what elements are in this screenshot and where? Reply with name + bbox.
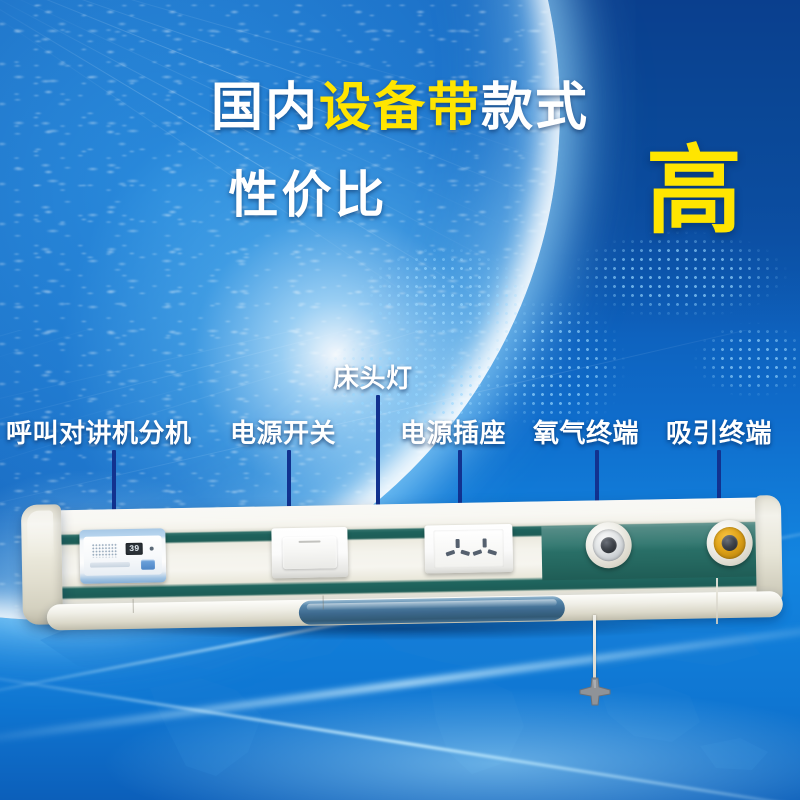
power-socket-device[interactable] xyxy=(424,524,513,574)
intercom-call-button[interactable] xyxy=(141,560,155,570)
nurse-call-intercom-device[interactable]: 39 xyxy=(79,528,166,584)
power-switch-device[interactable] xyxy=(271,527,348,578)
intercom-faceplate: 39 xyxy=(83,535,162,575)
promo-banner: 国内设备带款式 性价比 高 呼叫对讲机分机 电源开关 床头灯 电源插座 氧气终端… xyxy=(0,0,800,800)
speaker-grille-icon xyxy=(92,543,118,557)
callout-label-oxygen-terminal: 氧气终端 xyxy=(533,413,639,450)
callout-group: 呼叫对讲机分机 电源开关 床头灯 电源插座 氧气终端 吸引终端 xyxy=(0,0,800,800)
intercom-label-strip xyxy=(90,562,130,568)
callout-label-bed-head-lamp: 床头灯 xyxy=(333,358,413,395)
secondary-cord xyxy=(716,578,718,624)
pull-cord-handle-icon[interactable] xyxy=(577,676,613,706)
callout-label-nurse-call-intercom: 呼叫对讲机分机 xyxy=(6,413,192,450)
rocker-switch-paddle[interactable] xyxy=(282,536,337,569)
socket-faceplate xyxy=(433,529,504,568)
callout-label-power-socket: 电源插座 xyxy=(400,413,506,450)
intercom-display: 39 xyxy=(126,543,143,555)
medical-bed-head-unit: 39 xyxy=(21,491,783,637)
callout-label-suction-terminal: 吸引终端 xyxy=(666,413,772,450)
callout-label-power-switch: 电源开关 xyxy=(230,413,336,450)
socket-outlet-right-icon[interactable] xyxy=(472,538,498,560)
status-led-icon xyxy=(150,547,154,551)
lamp-diffuser-strip xyxy=(299,596,565,625)
socket-outlet-left-icon[interactable] xyxy=(445,539,471,561)
